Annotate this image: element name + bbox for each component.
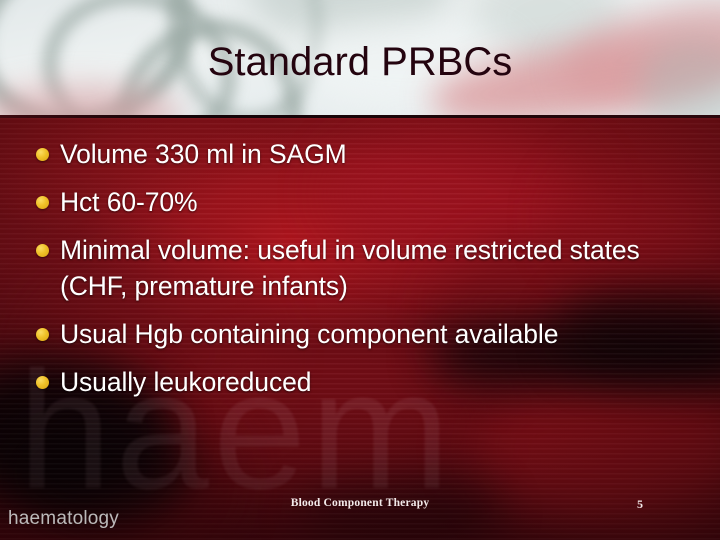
- list-item[interactable]: Usually leukoreduced: [0, 364, 720, 400]
- list-item-label: Usually leukoreduced: [60, 364, 311, 400]
- bullet-dot-icon: [36, 376, 49, 389]
- list-item[interactable]: Minimal volume: useful in volume restric…: [0, 232, 720, 304]
- bullet-list: Volume 330 ml in SAGM Hct 60-70% Minimal…: [0, 118, 720, 412]
- slide-canvas: Standard PRBCs haem Volume 330 ml in SAG…: [0, 0, 720, 540]
- slide-title: Standard PRBCs: [0, 38, 720, 86]
- list-item[interactable]: Hct 60-70%: [0, 184, 720, 220]
- bullet-dot-icon: [36, 244, 49, 257]
- slide-number: 5: [600, 497, 680, 512]
- list-item-label: Volume 330 ml in SAGM: [60, 136, 347, 172]
- list-item-label: Minimal volume: useful in volume restric…: [60, 232, 702, 304]
- bullet-dot-icon: [36, 328, 49, 341]
- bullet-dot-icon: [36, 196, 49, 209]
- list-item-label: Hct 60-70%: [60, 184, 197, 220]
- list-item-label: Usual Hgb containing component available: [60, 316, 558, 352]
- list-item[interactable]: Volume 330 ml in SAGM: [0, 136, 720, 172]
- list-item[interactable]: Usual Hgb containing component available: [0, 316, 720, 352]
- bullet-dot-icon: [36, 148, 49, 161]
- brand-label: haematology: [8, 508, 119, 530]
